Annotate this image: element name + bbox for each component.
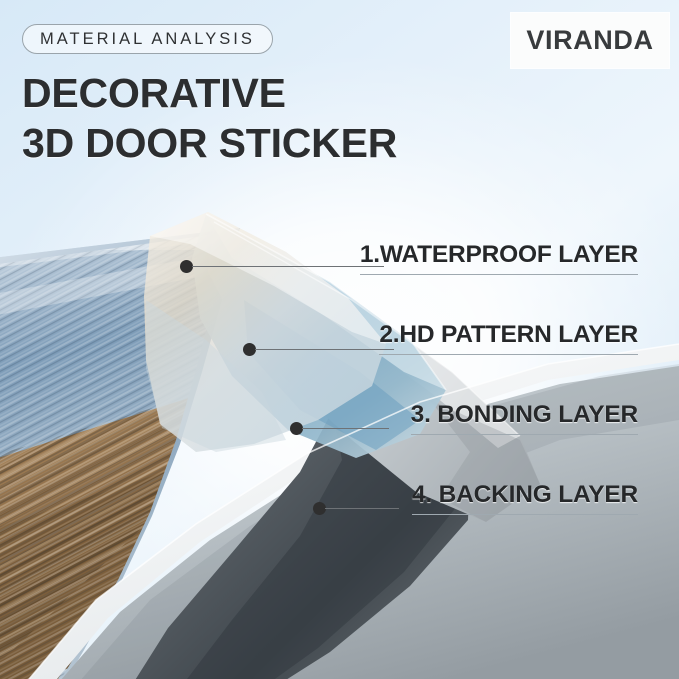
page-title: DECORATIVE 3D DOOR STICKER	[22, 68, 502, 168]
callout-label-3: 3. BONDING LAYER	[411, 401, 638, 435]
callout-label-3-text: 3. BONDING LAYER	[411, 401, 638, 435]
callout-line-4	[325, 508, 399, 509]
page-title-line2: 3D DOOR STICKER	[22, 118, 502, 168]
callout-label-4-text: 4. BACKING LAYER	[412, 481, 638, 515]
brand-logo: VIRANDA	[511, 13, 669, 68]
eyebrow-text: MATERIAL ANALYSIS	[40, 30, 255, 49]
callout-line-2	[255, 349, 394, 350]
callout-label-1-text: 1.WATERPROOF LAYER	[360, 241, 638, 275]
page-title-line1: DECORATIVE	[22, 70, 286, 116]
poster-canvas: 1.WATERPROOF LAYER 2.HD PATTERN LAYER 3.…	[0, 0, 679, 679]
callout-line-3	[302, 428, 389, 429]
callout-line-1	[192, 266, 384, 267]
brand-logo-text: VIRANDA	[526, 25, 653, 56]
callout-label-2: 2.HD PATTERN LAYER	[379, 321, 638, 355]
callout-label-2-text: 2.HD PATTERN LAYER	[379, 321, 638, 355]
eyebrow-badge: MATERIAL ANALYSIS	[22, 24, 273, 54]
callout-label-1: 1.WATERPROOF LAYER	[360, 241, 638, 275]
callout-label-4: 4. BACKING LAYER	[412, 481, 638, 515]
